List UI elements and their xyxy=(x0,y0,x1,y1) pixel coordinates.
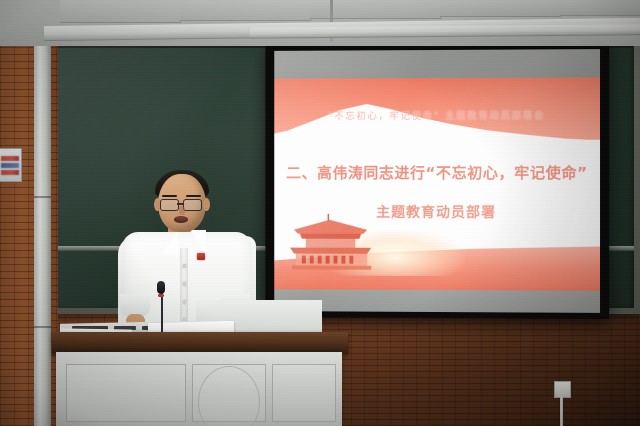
tiananmen-gate-icon xyxy=(284,212,379,274)
projection-screen[interactable]: “不忘初心，牢记使命” 主题教育动员部署会 二、高伟涛同志进行“不忘初心，牢记使… xyxy=(265,41,609,319)
collar-left xyxy=(162,230,178,254)
left-brick-pier xyxy=(0,0,58,426)
pier-column xyxy=(34,0,51,426)
glasses-right-lens xyxy=(183,199,202,211)
collar-right xyxy=(190,230,206,254)
wall-notice-sign xyxy=(0,148,22,182)
sleeve-left xyxy=(120,294,150,316)
glasses-left-lens xyxy=(160,199,179,211)
nose xyxy=(179,206,185,215)
podium-top-surface xyxy=(52,332,348,354)
glasses-bridge xyxy=(177,203,183,205)
slide-title-line1: 二、高伟涛同志进行“不忘初心，牢记使命” xyxy=(274,162,600,183)
slide-header-text: “不忘初心，牢记使命” 主题教育动员部署会 xyxy=(274,107,600,122)
microphone-indicator xyxy=(158,294,164,297)
slide-bottom-band xyxy=(274,289,600,313)
photo-scene: “不忘初心，牢记使命” 主题教育动员部署会 二、高伟涛同志进行“不忘初心，牢记使… xyxy=(0,0,640,426)
podium-body xyxy=(56,352,342,426)
sign-line-1 xyxy=(1,156,19,161)
sign-line-2 xyxy=(1,163,19,168)
slide-top-band xyxy=(274,49,600,79)
microphone-head xyxy=(157,281,165,294)
mouth xyxy=(174,216,188,223)
party-badge xyxy=(197,253,205,260)
presentation-slide: “不忘初心，牢记使命” 主题教育动员部署会 二、高伟涛同志进行“不忘初心，牢记使… xyxy=(274,49,600,313)
wall-outlet-conduit xyxy=(560,396,563,426)
sign-line-3 xyxy=(1,170,19,175)
